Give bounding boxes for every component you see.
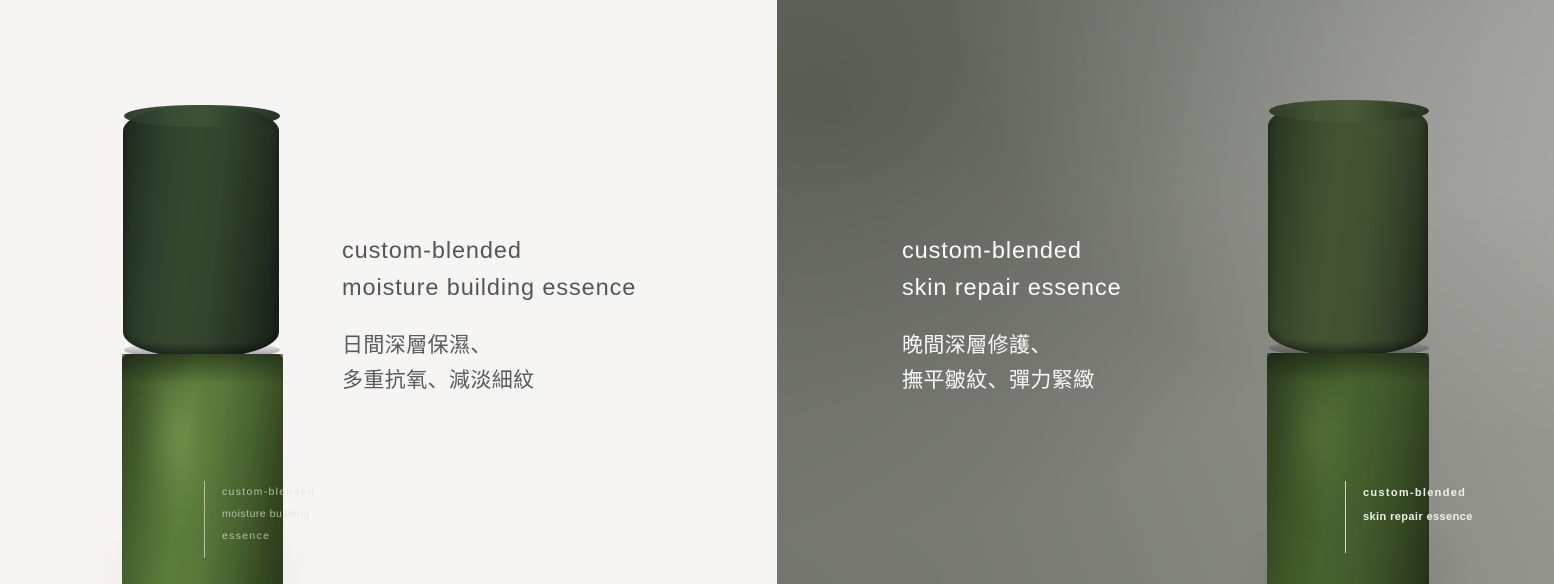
copy-block-right: custom-blended skin repair essence 晚間深層修… <box>902 232 1122 398</box>
product-heading-right: custom-blended skin repair essence <box>902 232 1122 306</box>
product-heading-line-2-right: skin repair essence <box>902 269 1122 306</box>
bottle-label-rule-right <box>1345 481 1346 553</box>
panel-moisture-building-essence[interactable]: custom-blended moisture building essence… <box>0 0 777 584</box>
product-subcopy-line-2-right: 撫平皺紋、彈力緊緻 <box>902 363 1122 398</box>
panel-skin-repair-essence[interactable]: custom-blended skin repair essence custo… <box>777 0 1554 584</box>
bottle-cap-top-left <box>124 105 280 127</box>
product-heading-left: custom-blended moisture building essence <box>342 232 636 306</box>
bottle-label-line-2-right: skin repair essence <box>1363 505 1473 529</box>
product-subcopy-line-1-right: 晚間深層修護、 <box>902 328 1122 363</box>
bottle-label-line-1-right: custom-blended <box>1363 481 1473 505</box>
bottle-label-line-3-left: essence <box>222 525 315 547</box>
product-subcopy-line-1-left: 日間深層保濕、 <box>342 328 636 363</box>
bottle-cap-top-right <box>1269 100 1429 122</box>
product-subcopy-left: 日間深層保濕、 多重抗氧、減淡細紋 <box>342 328 636 398</box>
bottle-cap-left <box>123 105 279 358</box>
copy-block-left: custom-blended moisture building essence… <box>342 232 636 398</box>
product-subcopy-line-2-left: 多重抗氧、減淡細紋 <box>342 363 636 398</box>
bottle-label-rule-left <box>204 481 205 558</box>
bottle-label-line-1-left: custom-blended <box>222 481 315 503</box>
product-heading-line-1-right: custom-blended <box>902 232 1122 269</box>
product-banner: custom-blended moisture building essence… <box>0 0 1554 584</box>
bottle-label-line-2-left: moisture building <box>222 503 315 525</box>
product-heading-line-1-left: custom-blended <box>342 232 636 269</box>
bottle-label-lines-right: custom-blended skin repair essence <box>1363 481 1473 529</box>
bottle-label-moisture-building-essence: custom-blended moisture building essence <box>204 481 315 558</box>
bottle-label-skin-repair-essence: custom-blended skin repair essence <box>1345 481 1473 553</box>
bottle-label-lines-left: custom-blended moisture building essence <box>222 481 315 547</box>
product-subcopy-right: 晚間深層修護、 撫平皺紋、彈力緊緻 <box>902 328 1122 398</box>
product-heading-line-2-left: moisture building essence <box>342 269 636 306</box>
bottle-cap-right <box>1268 100 1428 356</box>
bottle-neck-shade-right <box>1267 353 1429 381</box>
